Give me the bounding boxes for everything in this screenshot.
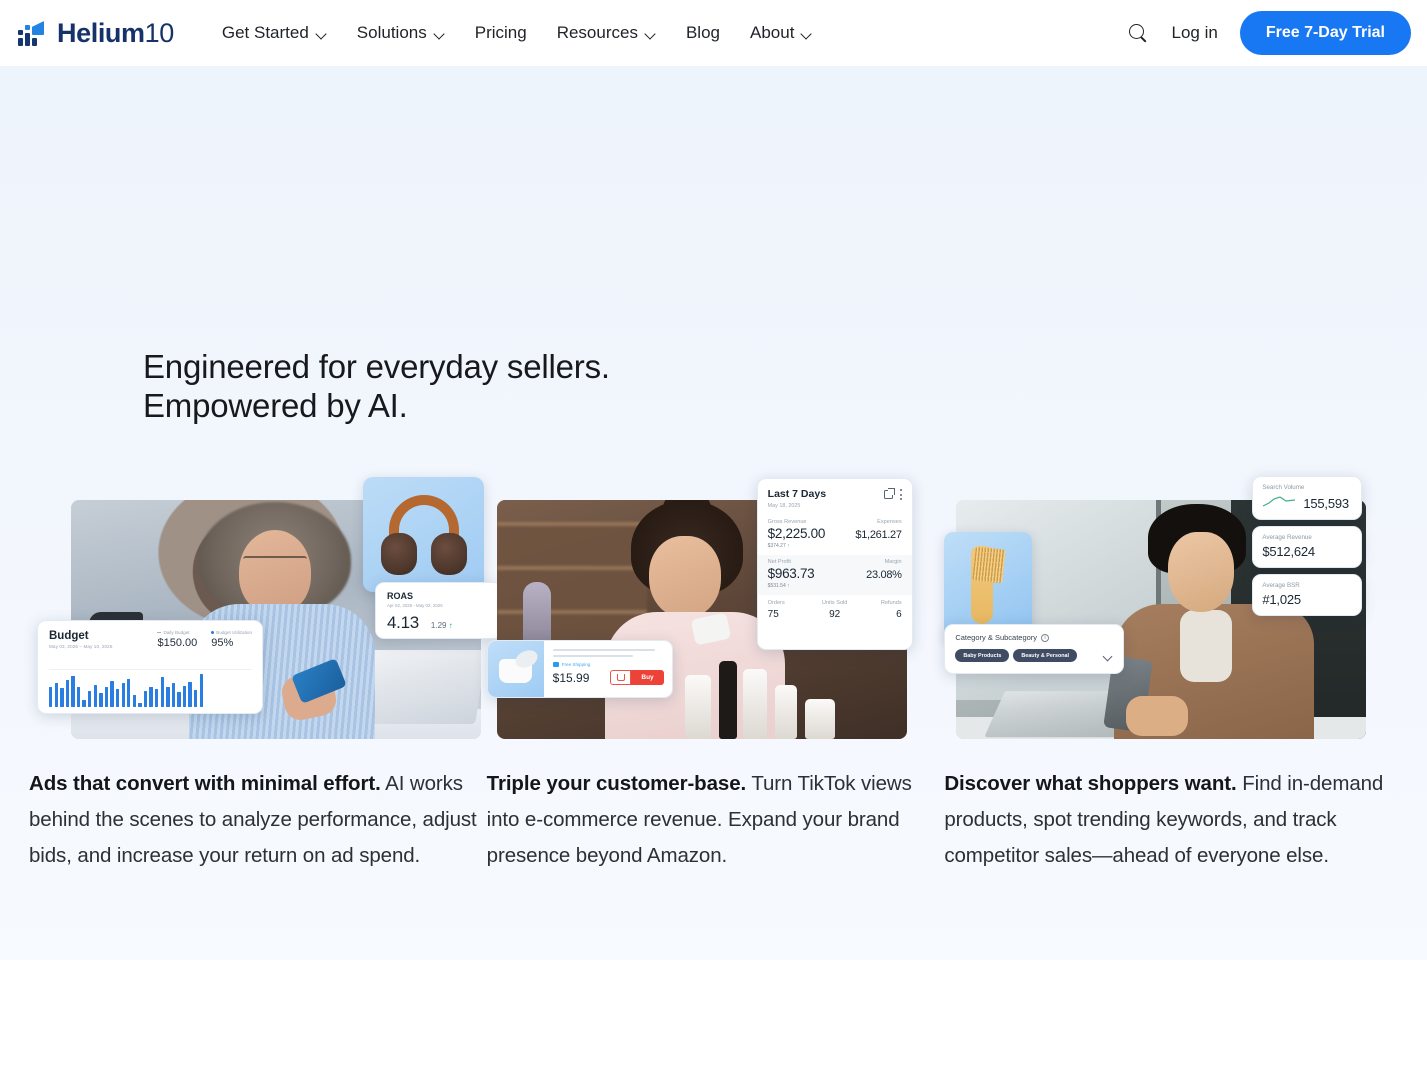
bar-14 — [122, 683, 125, 707]
stat-value: #1,025 — [1262, 592, 1352, 607]
stat-label: Search Volume — [1262, 484, 1352, 491]
external-link-icon[interactable] — [884, 490, 893, 499]
count-label: Units Sold — [812, 600, 857, 606]
budget-legend: Daily Budget $150.00 Budget Utilization … — [157, 630, 252, 649]
nav-label: Pricing — [475, 23, 527, 43]
free-shipping-badge: Free Shipping — [553, 662, 664, 667]
bar-19 — [149, 687, 152, 707]
header-actions: Log in Free 7-Day Trial — [1126, 11, 1412, 55]
logo-word: Helium — [57, 18, 145, 48]
bar-18 — [144, 691, 147, 707]
main-navigation: Get Started Solutions Pricing Resources … — [222, 23, 813, 43]
caption-bold: Discover what shoppers want. — [944, 772, 1236, 795]
legend-budget-utilization: Budget Utilization 95% — [211, 630, 252, 649]
budget-widget[interactable]: Budget May 03, 2025 – May 10, 2025 Daily… — [37, 620, 263, 714]
roas-date-range: Apr 02, 2025 - May 02, 2025 — [387, 603, 491, 608]
nav-label: Solutions — [357, 23, 427, 43]
metric-label: Margin — [885, 559, 902, 565]
bar-24 — [177, 692, 180, 707]
legend-value: $150.00 — [157, 637, 197, 649]
average-bsr-stat[interactable]: Average BSR #1,025 — [1252, 574, 1362, 616]
chevron-down-icon — [801, 30, 812, 37]
metric-delta-value: $374.27 — [768, 543, 786, 549]
nav-label: Blog — [686, 23, 720, 43]
card-caption-discover: Discover what shoppers want. Find in-dem… — [944, 766, 1398, 874]
bar-9 — [94, 685, 97, 707]
last7-date: May 18, 2025 — [768, 503, 902, 509]
roas-title: ROAS — [387, 591, 491, 601]
legend-dash-marker — [157, 632, 161, 633]
bar-15 — [127, 679, 130, 707]
roas-value: 4.13 — [387, 613, 419, 633]
nav-label: Get Started — [222, 23, 309, 43]
logo-text: Helium10 — [57, 18, 174, 49]
hero-section: Engineered for everyday sellers. Empower… — [0, 66, 1427, 960]
headline-line-1: Engineered for everyday sellers. — [143, 348, 610, 387]
search-volume-stat[interactable]: Search Volume 155,593 — [1252, 476, 1362, 520]
bar-27 — [194, 690, 197, 707]
last-7-days-widget[interactable]: Last 7 Days May 18, 2025 Gross Revenue E… — [757, 478, 913, 650]
helium10-logo[interactable]: Helium10 — [18, 18, 174, 49]
bar-6 — [77, 687, 80, 707]
bar-25 — [183, 686, 186, 707]
feature-card-discover: Category & Subcategory i Baby Products B… — [942, 474, 1400, 874]
metric-label: Expenses — [877, 519, 902, 525]
legend-dot-marker — [211, 631, 214, 634]
feature-card-ads: Budget May 03, 2025 – May 10, 2025 Daily… — [27, 474, 485, 874]
card-media-discover: Category & Subcategory i Baby Products B… — [944, 474, 1398, 739]
nav-item-get-started[interactable]: Get Started — [222, 23, 327, 43]
bar-13 — [116, 689, 119, 707]
count-value: 75 — [768, 609, 813, 620]
legend-daily-budget: Daily Budget $150.00 — [157, 630, 197, 649]
nav-item-resources[interactable]: Resources — [557, 23, 656, 43]
metric-value: $2,225.00 — [768, 526, 825, 541]
bar-2 — [55, 683, 58, 707]
bar-1 — [49, 687, 52, 707]
count-value: 92 — [812, 609, 857, 620]
bar-3 — [60, 688, 63, 707]
card-caption-ads: Ads that convert with minimal effort. AI… — [29, 766, 483, 874]
nav-item-pricing[interactable]: Pricing — [475, 23, 527, 43]
category-label: Category & Subcategory — [955, 633, 1037, 642]
search-icon[interactable] — [1126, 21, 1150, 45]
metric-label: Gross Revenue — [768, 519, 807, 525]
stat-label: Average BSR — [1262, 582, 1352, 589]
metric-label: Net Profit — [768, 559, 791, 565]
bar-21 — [161, 677, 164, 707]
card-media-tiktok: Last 7 Days May 18, 2025 Gross Revenue E… — [487, 474, 941, 739]
bar-28 — [200, 674, 203, 707]
shopping-cart-icon[interactable] — [610, 670, 631, 685]
roas-delta: 1.29 ↑ — [431, 621, 453, 630]
bar-17 — [138, 703, 141, 707]
feature-cards: Budget May 03, 2025 – May 10, 2025 Daily… — [0, 474, 1427, 874]
card-media-ads: Budget May 03, 2025 – May 10, 2025 Daily… — [29, 474, 483, 739]
legend-value: 95% — [211, 637, 252, 649]
metric-value: $963.73 — [768, 566, 815, 581]
legend-label: Budget Utilization — [216, 630, 252, 635]
bar-5 — [71, 676, 74, 707]
count-units-sold: Units Sold 92 — [812, 600, 857, 620]
nav-label: Resources — [557, 23, 638, 43]
category-chips: Baby Products Beauty & Personal — [955, 649, 1113, 662]
chevron-down-icon — [434, 30, 445, 37]
headline-line-2: Empowered by AI. — [143, 387, 610, 426]
bar-22 — [166, 687, 169, 707]
site-header: Helium10 Get Started Solutions Pricing R… — [0, 0, 1427, 66]
metric-value: $1,261.27 — [855, 529, 901, 541]
caption-bold: Triple your customer-base. — [487, 772, 746, 795]
roas-delta-value: 1.29 — [431, 621, 447, 630]
roas-widget[interactable]: ROAS Apr 02, 2025 - May 02, 2025 4.13 1.… — [375, 582, 503, 639]
last7-revenue-section: Gross Revenue Expenses $2,225.00 $1,261.… — [758, 515, 912, 555]
product-thumbnail — [488, 641, 544, 697]
last7-title: Last 7 Days — [768, 488, 902, 500]
category-filter-widget[interactable]: Category & Subcategory i Baby Products B… — [944, 624, 1124, 674]
bar-11 — [105, 687, 108, 707]
bar-4 — [66, 680, 69, 707]
arrow-up-icon: ↑ — [787, 583, 790, 589]
feature-card-tiktok: Last 7 Days May 18, 2025 Gross Revenue E… — [485, 474, 943, 874]
budget-bar-chart — [49, 669, 252, 707]
sparkline-icon — [1262, 495, 1296, 509]
arrow-up-icon: ↑ — [787, 543, 790, 549]
bar-12 — [110, 681, 113, 707]
shipping-label: Free Shipping — [562, 662, 591, 667]
bar-26 — [188, 682, 191, 707]
arrow-up-icon: ↑ — [449, 621, 453, 630]
chevron-down-icon — [316, 30, 327, 37]
bar-8 — [88, 691, 91, 707]
bar-20 — [155, 689, 158, 707]
last7-counts: Orders 75 Units Sold 92 Refunds 6 — [758, 595, 912, 628]
product-listing-widget[interactable]: Free Shipping $15.99 Buy — [487, 640, 673, 698]
stat-label: Average Revenue — [1262, 534, 1352, 541]
nav-item-about[interactable]: About — [750, 23, 812, 43]
nav-label: About — [750, 23, 794, 43]
count-value: 6 — [857, 609, 902, 620]
login-link[interactable]: Log in — [1172, 23, 1218, 43]
headphones-thumbnail — [363, 477, 484, 592]
bar-7 — [82, 700, 85, 707]
average-revenue-stat[interactable]: Average Revenue $512,624 — [1252, 526, 1362, 568]
chevron-down-icon — [645, 30, 656, 37]
bar-10 — [99, 693, 102, 707]
logo-number: 10 — [145, 18, 174, 48]
stat-value: $512,624 — [1262, 544, 1352, 559]
metric-delta: $374.27 ↑ — [768, 543, 902, 549]
count-orders: Orders 75 — [768, 600, 813, 620]
free-trial-button[interactable]: Free 7-Day Trial — [1240, 11, 1411, 55]
chevron-down-icon[interactable] — [1103, 653, 1113, 659]
metric-delta: $531.54 ↑ — [768, 583, 902, 589]
chip-beauty-personal[interactable]: Beauty & Personal — [1013, 649, 1077, 662]
product-price: $15.99 — [553, 671, 590, 685]
placeholder-line — [553, 649, 655, 651]
more-vertical-icon[interactable] — [900, 489, 903, 500]
truck-icon — [553, 662, 559, 667]
nav-item-solutions[interactable]: Solutions — [357, 23, 445, 43]
metric-value: 23.08% — [866, 569, 902, 581]
metric-delta-value: $531.54 — [768, 583, 786, 589]
last7-profit-section: Net Profit Margin $963.73 23.08% $531.54… — [758, 555, 912, 595]
bar-16 — [133, 695, 136, 707]
count-refunds: Refunds 6 — [857, 600, 902, 620]
count-label: Orders — [768, 600, 813, 606]
buy-button[interactable]: Buy — [631, 670, 663, 685]
legend-label: Daily Budget — [163, 630, 189, 635]
page-title: Engineered for everyday sellers. Empower… — [143, 348, 610, 425]
chip-baby-products[interactable]: Baby Products — [955, 649, 1009, 662]
stat-value: 155,593 — [1303, 496, 1349, 511]
card-caption-tiktok: Triple your customer-base. Turn TikTok v… — [487, 766, 941, 874]
category-label-row: Category & Subcategory i — [955, 633, 1113, 642]
logo-bars-icon — [18, 20, 48, 46]
caption-bold: Ads that convert with minimal effort. — [29, 772, 381, 795]
bar-23 — [172, 683, 175, 707]
placeholder-line — [553, 655, 633, 657]
count-label: Refunds — [857, 600, 902, 606]
nav-item-blog[interactable]: Blog — [686, 23, 720, 43]
info-icon[interactable]: i — [1041, 634, 1049, 642]
